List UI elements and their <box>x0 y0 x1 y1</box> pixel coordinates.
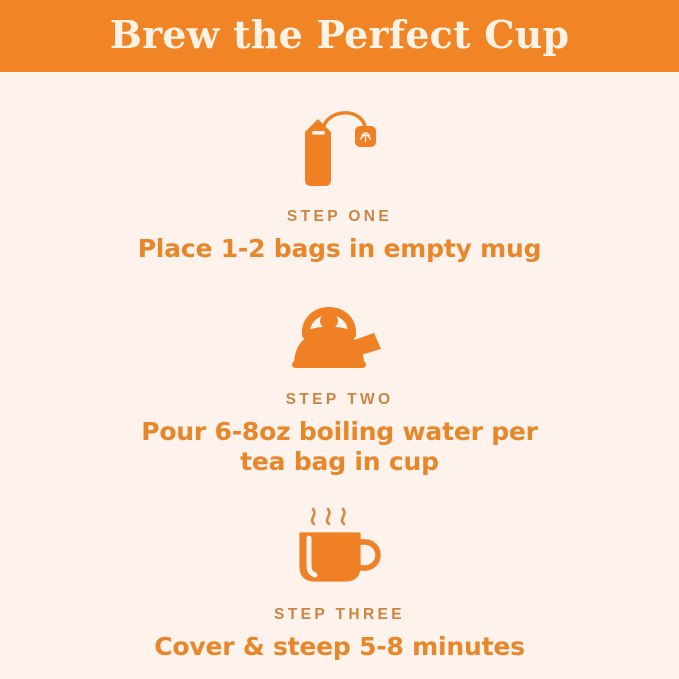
brew-instructions-page: Brew the Perfect Cup <box>0 0 679 679</box>
step-item-three: STEP THREE Cover & steep 5-8 minutes <box>0 502 679 663</box>
page-title: Brew the Perfect Cup <box>110 16 569 56</box>
steps-list: STEP ONE Place 1-2 bags in empty mug <box>0 72 679 662</box>
step-item-two: STEP TWO Pour 6-8oz boiling water per te… <box>0 291 679 478</box>
step-item-one: STEP ONE Place 1-2 bags in empty mug <box>0 90 679 265</box>
step-two-text: Pour 6-8oz boiling water per tea bag in … <box>125 417 555 478</box>
step-three-text: Cover & steep 5-8 minutes <box>154 632 525 663</box>
step-three-label: STEP THREE <box>274 606 405 624</box>
kettle-icon <box>280 291 400 373</box>
step-two-label: STEP TWO <box>286 391 394 409</box>
steaming-mug-icon <box>285 502 395 588</box>
header-bar: Brew the Perfect Cup <box>0 0 679 72</box>
step-one-text: Place 1-2 bags in empty mug <box>138 234 542 265</box>
tea-bag-icon <box>285 104 395 190</box>
step-one-label: STEP ONE <box>287 208 392 226</box>
